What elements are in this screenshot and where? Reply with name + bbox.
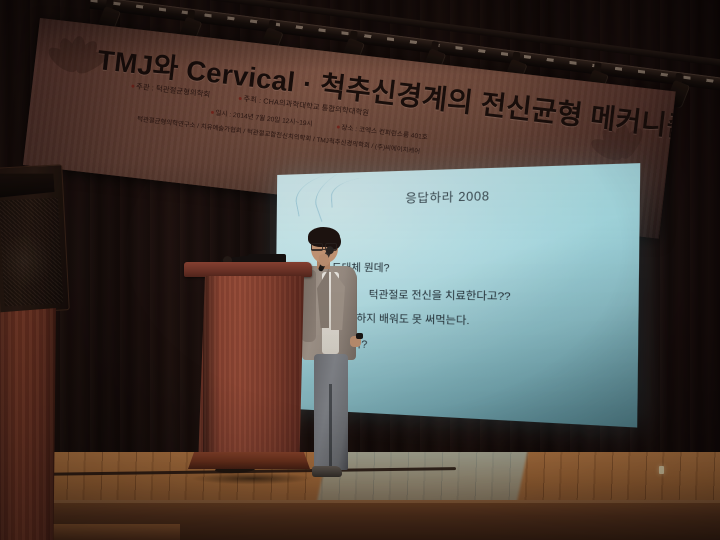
date-label: 일시 [215,110,228,118]
pa-loudspeaker-icon [0,164,70,313]
place-label: 장소 [341,124,354,132]
lectern-front-panel [194,276,304,454]
pa-grille [0,198,63,307]
presenter-trousers [314,354,348,470]
lectern-base [188,452,310,469]
conference-stage-photo: TMJ와 Cervical · 척추신경계의 전신균형 메커니즘 및 치료법 ●… [0,0,720,540]
lectern-wood-grain [194,276,304,454]
lectern-desktop [184,262,312,277]
pa-horn [0,171,55,198]
wooden-lectern [188,262,310,480]
host-label: 주관 [136,82,151,93]
presenter-label: 주최 [243,94,258,105]
presentation-clicker-icon [356,333,363,339]
foreground-lectern [0,308,56,540]
floor-marker-icon [659,466,664,474]
